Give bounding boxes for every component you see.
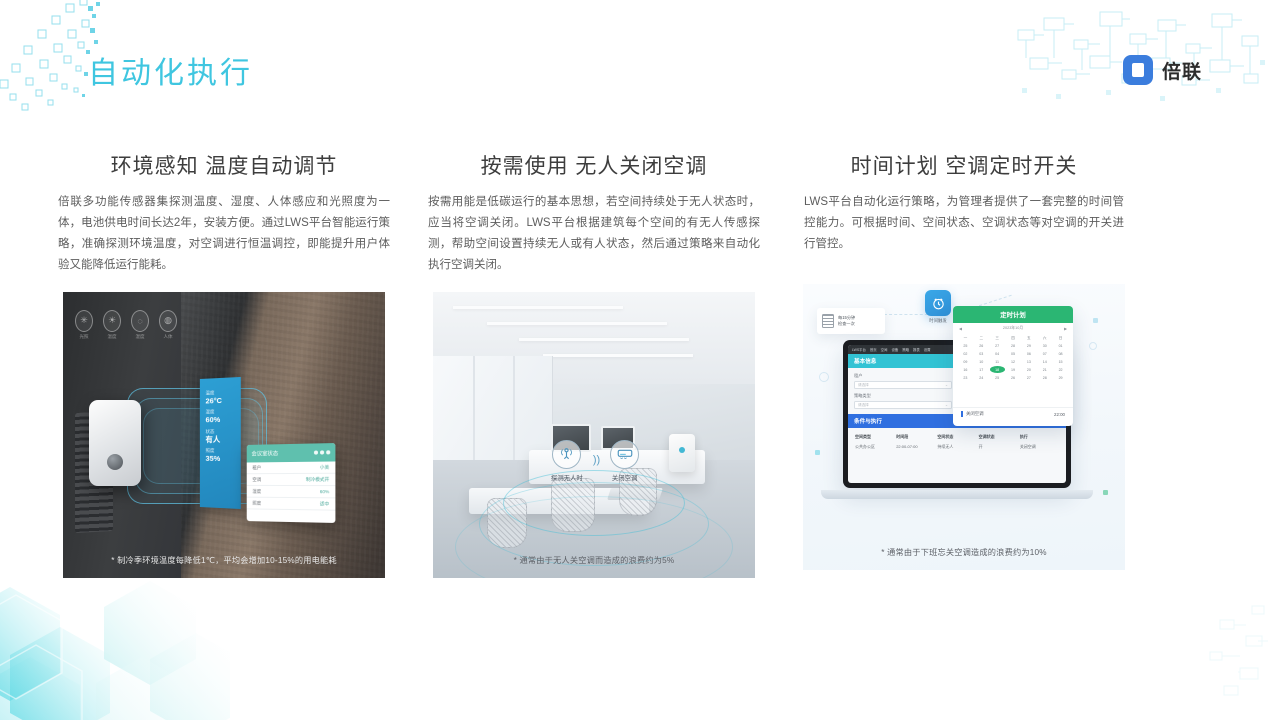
wall-icon-temperature: ☀ 温度 xyxy=(103,310,121,332)
calendar-day-cell[interactable]: 22 xyxy=(1053,366,1068,373)
air-conditioner-device xyxy=(669,434,695,472)
slide-root: 自动化执行 倍联 环境感知 温度自动调节 倍联多功能传感器集探测温度、湿度、人体… xyxy=(0,0,1280,720)
air-conditioner-icon xyxy=(610,440,639,469)
brand-mark-icon xyxy=(1123,55,1153,85)
wall-icon-row: ✳ 光照 ☀ 温度 ◌ 湿度 ◍ 人体 xyxy=(75,310,177,332)
calendar-day-cell[interactable]: 21 xyxy=(1037,366,1052,373)
calendar-day-cell[interactable]: 12 xyxy=(1006,358,1021,365)
slide-header: 自动化执行 倍联 xyxy=(0,0,1280,120)
status-row: 照度适中 xyxy=(247,497,336,510)
status-row: 租户小美 xyxy=(247,461,336,474)
schedule-calendar-card: 定时计划 ◀ 2023年10月 ▶ 一 二 三 四 五 六 日 xyxy=(953,306,1073,426)
brand-logo: 倍联 xyxy=(1123,55,1202,85)
calendar-day-cell[interactable]: 05 xyxy=(1006,350,1021,357)
calendar-day-cell[interactable]: 25 xyxy=(958,342,973,349)
calendar-day-cell[interactable]: 11 xyxy=(990,358,1005,365)
decoration-bottom-right-grid xyxy=(1100,600,1280,720)
figure-sensor-wall: ✳ 光照 ☀ 温度 ◌ 湿度 ◍ 人体 xyxy=(63,292,385,578)
decoration-bottom-left-hexagons xyxy=(0,555,230,720)
calendar-day-cell[interactable]: 24 xyxy=(974,374,989,381)
wall-icon-humidity: ◌ 湿度 xyxy=(131,310,149,332)
calendar-day-cell[interactable]: 16 xyxy=(958,366,973,373)
overlay-presence-detect: 探测无人时 xyxy=(551,440,583,482)
calendar-day-cell[interactable]: 10 xyxy=(974,358,989,365)
page-title: 自动化执行 xyxy=(88,48,253,92)
table-row: 公共办公区 22:00-07:00 持续无人 开 关闭空调 xyxy=(854,442,1060,452)
wall-icon-presence: ◍ 人体 xyxy=(159,310,177,332)
topbar-nav-space[interactable]: 空间 xyxy=(881,347,888,352)
calendar-day-cell[interactable]: 06 xyxy=(1021,350,1036,357)
column-time-schedule: 时间计划 空调定时开关 LWS平台自动化运行策略，为管理者提供了一套完整的时间管… xyxy=(798,150,1130,578)
status-row: 空调制冷模式开 xyxy=(247,473,336,485)
column-environment-sensing: 环境感知 温度自动调节 倍联多功能传感器集探测温度、湿度、人体感应和光照度为一体… xyxy=(58,150,390,578)
status-card-title: 会议室状态 xyxy=(251,449,278,457)
signal-waves-icon: )) xyxy=(593,446,600,475)
calendar-day-grid[interactable]: 2526272829300102030405060708091011121314… xyxy=(953,342,1073,381)
clock-icon xyxy=(925,290,951,316)
topbar-nav-strategy[interactable]: 策略 xyxy=(902,347,909,352)
column-title: 环境感知 温度自动调节 xyxy=(58,150,390,180)
calendar-day-cell[interactable]: 26 xyxy=(974,342,989,349)
calendar-month-label: 2023年10月 xyxy=(1003,326,1023,331)
multifunction-sensor-device xyxy=(89,400,141,486)
calendar-day-cell[interactable]: 19 xyxy=(1006,366,1021,373)
topbar-nav-home[interactable]: 首页 xyxy=(870,347,877,352)
figure-caption: * 通常由于下班忘关空调造成的浪费约为10% xyxy=(803,546,1125,558)
column-body: LWS平台自动化运行策略，为管理者提供了一套完整的时间管控能力。可根据时间、空间… xyxy=(798,192,1130,268)
calendar-nav: ◀ 2023年10月 ▶ xyxy=(953,323,1073,334)
calendar-day-cell[interactable]: 09 xyxy=(958,358,973,365)
calendar-day-cell[interactable]: 08 xyxy=(1053,350,1068,357)
calendar-day-cell[interactable]: 20 xyxy=(1021,366,1036,373)
calendar-title: 定时计划 xyxy=(953,306,1073,323)
brand-name: 倍联 xyxy=(1162,57,1202,84)
calendar-day-cell[interactable]: 01 xyxy=(1053,342,1068,349)
calendar-day-cell[interactable]: 13 xyxy=(1021,358,1036,365)
wall-icon-light: ✳ 光照 xyxy=(75,310,93,332)
calendar-event: 关闭空调 22:00 xyxy=(953,407,1073,420)
figure-caption: * 制冷季环境温度每降低1℃，平均会增加10-15%的用电能耗 xyxy=(63,554,385,566)
sensor-readout-panel: 温度 26°C 湿度 60% 状态 有人 照度 35% xyxy=(200,377,241,509)
calendar-day-cell[interactable]: 17 xyxy=(974,366,989,373)
chevron-down-icon: ⌄ xyxy=(945,403,948,407)
topbar-nav-report[interactable]: 报表 xyxy=(913,347,920,352)
field-strategy-type: 策略类型 请选择⌄ xyxy=(854,393,952,409)
topbar-brand: LWS平台 xyxy=(852,347,866,352)
column-body: 按需用能是低碳运行的基本思想，若空间持续处于无人状态时，应当将空调关闭。LWS平… xyxy=(428,192,760,276)
ac-indicator-led xyxy=(679,447,685,453)
column-on-demand-usage: 按需使用 无人关闭空调 按需用能是低碳运行的基本思想，若空间持续处于无人状态时，… xyxy=(428,150,760,578)
table-header-row: 空间类型 时间段 空间状态 空调状态 执行 xyxy=(854,432,1060,442)
checklist-icon xyxy=(822,314,834,328)
calendar-day-cell[interactable]: 14 xyxy=(1037,358,1052,365)
calendar-day-cell[interactable]: 30 xyxy=(1037,342,1052,349)
content-columns: 环境感知 温度自动调节 倍联多功能传感器集探测温度、湿度、人体感应和光照度为一体… xyxy=(0,150,1280,578)
column-title: 按需使用 无人关闭空调 xyxy=(428,150,760,180)
column-title: 时间计划 空调定时开关 xyxy=(798,150,1130,180)
chevron-down-icon: ⌄ xyxy=(945,383,948,387)
check-interval-note-card: 每15分钟 检查一次 xyxy=(817,308,885,334)
topbar-nav-settings[interactable]: 设置 xyxy=(924,347,931,352)
calendar-day-cell[interactable]: 29 xyxy=(1021,342,1036,349)
calendar-day-cell[interactable]: 29 xyxy=(1053,374,1068,381)
calendar-day-cell[interactable]: 03 xyxy=(974,350,989,357)
status-row: 湿度60% xyxy=(247,486,336,498)
calendar-day-cell[interactable]: 25 xyxy=(990,374,1005,381)
sensor-lens-icon xyxy=(107,454,123,470)
calendar-day-cell[interactable]: 28 xyxy=(1037,374,1052,381)
calendar-day-cell[interactable]: 15 xyxy=(1053,358,1068,365)
figure-caption: * 通常由于无人关空调而造成的浪费约为5% xyxy=(433,554,755,566)
calendar-next-button[interactable]: ▶ xyxy=(1064,326,1067,331)
event-label: 关闭空调 xyxy=(961,411,984,417)
calendar-day-cell[interactable]: 26 xyxy=(1006,374,1021,381)
calendar-day-cell[interactable]: 07 xyxy=(1037,350,1052,357)
field-tenant: 租户 请选择⌄ xyxy=(854,373,952,389)
overlay-ac-shutdown: 关闭空调 xyxy=(610,440,639,482)
window-dots-icon xyxy=(314,450,330,454)
figure-overlay-labels: 探测无人时 )) 关闭空调 xyxy=(525,440,665,482)
event-time: 22:00 xyxy=(1054,412,1065,417)
calendar-day-cell[interactable]: 18 xyxy=(990,366,1005,373)
calendar-day-cell[interactable]: 28 xyxy=(1006,342,1021,349)
calendar-day-cell[interactable]: 23 xyxy=(958,374,973,381)
calendar-day-cell[interactable]: 04 xyxy=(990,350,1005,357)
calendar-day-cell[interactable]: 27 xyxy=(1021,374,1036,381)
presence-sensor-icon xyxy=(552,440,581,469)
calendar-weekday-row: 一 二 三 四 五 六 日 xyxy=(953,334,1073,342)
column-body: 倍联多功能传感器集探测温度、湿度、人体感应和光照度为一体，电池供电时间长达2年，… xyxy=(58,192,390,276)
figure-schedule-dashboard: 每15分钟 检查一次 时间触发 LWS平台 xyxy=(803,284,1125,570)
conditions-table: 空间类型 时间段 空间状态 空调状态 执行 公共办公区 22:00-07:00 … xyxy=(848,428,1066,456)
meeting-room-status-card: 会议室状态 租户小美 空调制冷模式开 湿度60% 照度适中 xyxy=(247,443,336,523)
calendar-prev-button[interactable]: ◀ xyxy=(959,326,962,331)
figure-empty-office: 探测无人时 )) 关闭空调 * 通常由于 xyxy=(433,292,755,578)
calendar-day-cell[interactable]: 02 xyxy=(958,350,973,357)
laptop-base xyxy=(821,490,1093,499)
calendar-day-cell[interactable]: 27 xyxy=(990,342,1005,349)
topbar-nav-device[interactable]: 设备 xyxy=(891,347,898,352)
